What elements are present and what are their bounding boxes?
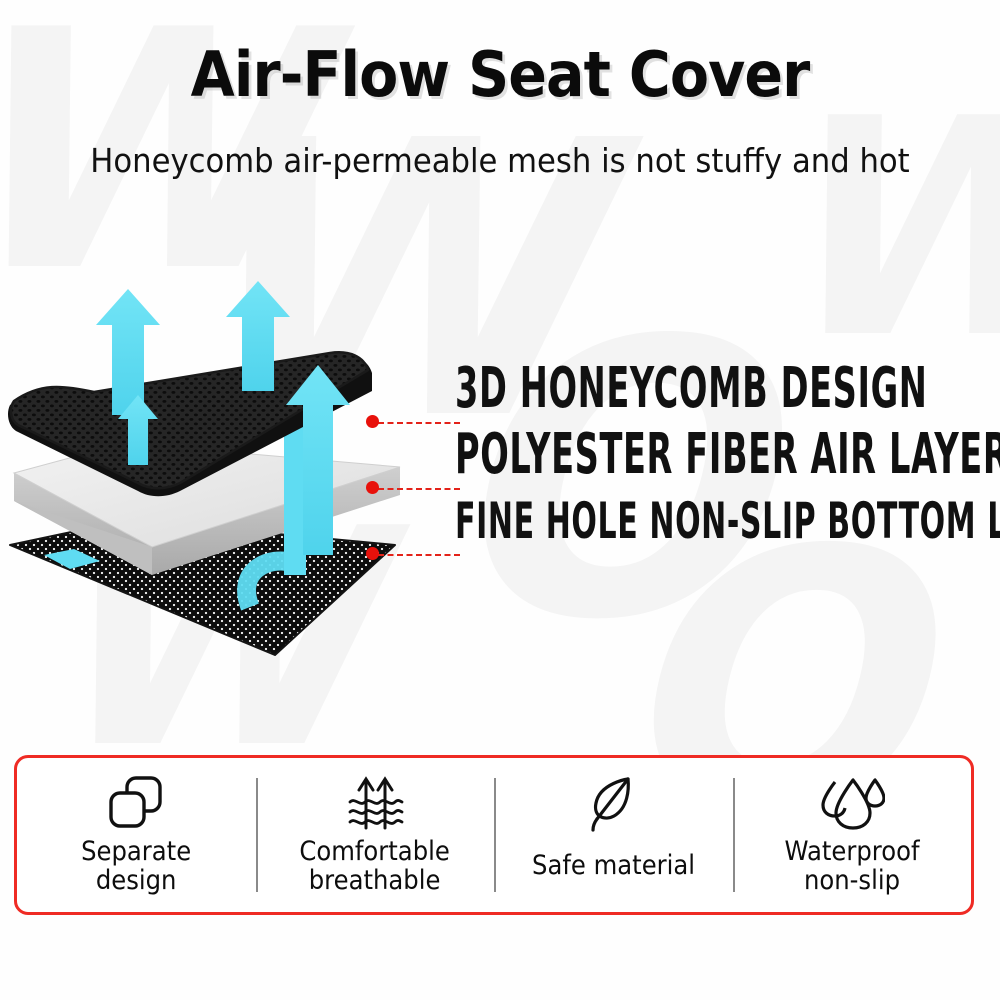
callout-dot-bottom bbox=[366, 547, 379, 560]
callout-dot-middle bbox=[366, 481, 379, 494]
exploded-layer-diagram bbox=[0, 255, 470, 675]
feature-safe-material[interactable]: Safe material bbox=[494, 758, 733, 912]
page-title: Air-Flow Seat Cover bbox=[40, 0, 960, 111]
feature-separate-design-label: Separate design bbox=[81, 838, 191, 896]
callout-honeycomb-label: 3D HONEYCOMB DESIGN bbox=[455, 361, 927, 417]
callout-polyester-label: POLYESTER FIBER AIR LAYER bbox=[455, 427, 1000, 483]
callout-dash-middle bbox=[378, 488, 460, 490]
feature-waterproof-nonslip[interactable]: Waterproof non-slip bbox=[733, 758, 972, 912]
feature-separate-design[interactable]: Separate design bbox=[17, 758, 256, 912]
leaf-icon bbox=[584, 772, 642, 834]
header: Air-Flow Seat Cover Honeycomb air-permea… bbox=[0, 0, 1000, 180]
feature-bar: Separate design Comfortable breathable bbox=[14, 755, 974, 915]
callout-polyester: POLYESTER FIBER AIR LAYER bbox=[455, 426, 1000, 484]
callout-dot-top bbox=[366, 415, 379, 428]
separate-squares-icon bbox=[105, 772, 167, 834]
feature-safe-material-label: Safe material bbox=[532, 852, 695, 881]
feature-comfortable-breathable-label: Comfortable breathable bbox=[300, 838, 450, 896]
feature-comfortable-breathable[interactable]: Comfortable breathable bbox=[256, 758, 495, 912]
breathable-arrows-icon bbox=[344, 772, 406, 834]
feature-waterproof-nonslip-label: Waterproof non-slip bbox=[784, 838, 919, 896]
layer-callout-list: 3D HONEYCOMB DESIGN POLYESTER FIBER AIR … bbox=[455, 360, 1000, 575]
callout-honeycomb: 3D HONEYCOMB DESIGN bbox=[455, 360, 1000, 418]
water-drops-icon bbox=[819, 772, 885, 834]
callout-dash-top bbox=[378, 422, 460, 424]
callout-nonslip: FINE HOLE NON-SLIP BOTTOM LAYER bbox=[455, 492, 1000, 550]
callout-dash-bottom bbox=[378, 554, 460, 556]
callout-nonslip-label: FINE HOLE NON-SLIP BOTTOM LAYER bbox=[455, 496, 1000, 546]
infographic-page: W W O O W W Air-Flow Seat Cover Honeycom… bbox=[0, 0, 1000, 1000]
page-subtitle: Honeycomb air-permeable mesh is not stuf… bbox=[35, 111, 965, 180]
